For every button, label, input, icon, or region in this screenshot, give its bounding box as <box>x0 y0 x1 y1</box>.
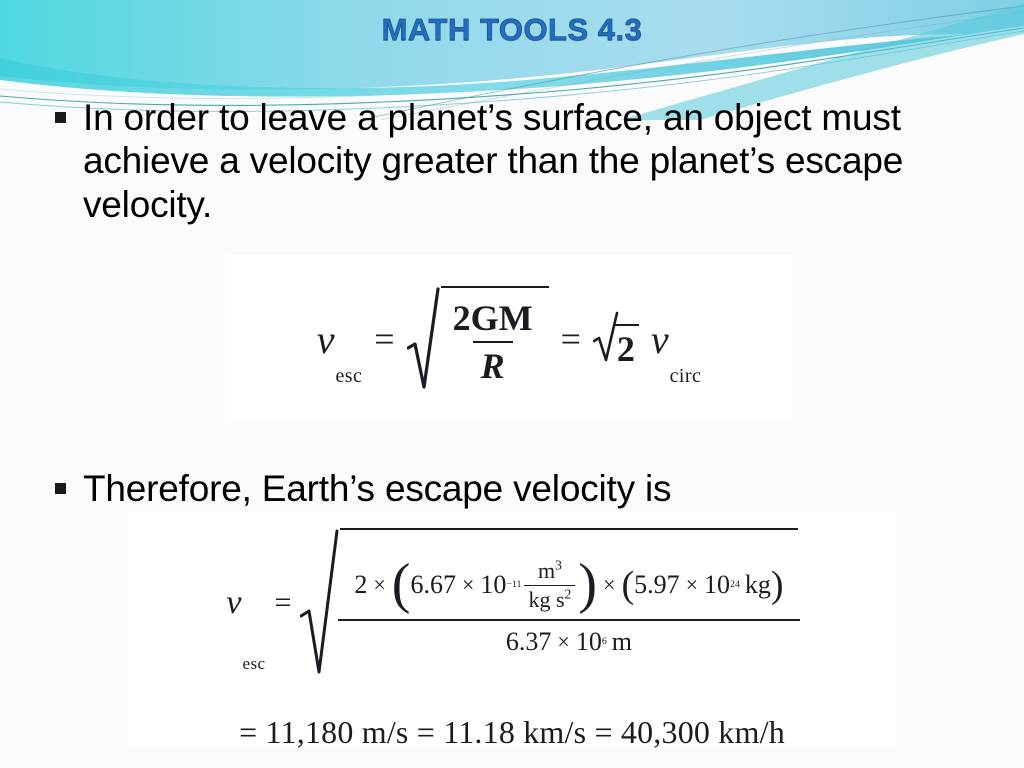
square-bullet-icon <box>55 112 66 123</box>
eq2-lhs-variable: v <box>226 584 241 622</box>
eq1-rhs-subscript: circ <box>670 365 702 392</box>
eq2-R-mantissa: 6.37 <box>506 627 552 657</box>
eq2-lhs-subscript: esc <box>243 654 266 678</box>
eq1-relation-2: = <box>561 318 581 360</box>
eq2-G-unit-num-exp: 3 <box>555 557 562 572</box>
eq2-G-times: × <box>462 572 474 598</box>
eq1-rhs-variable: v <box>651 316 669 363</box>
eq2-G-mantissa: 6.67 <box>410 570 456 600</box>
eq1-relation-1: = <box>374 318 394 360</box>
eq2-G-unit-den-exp: 2 <box>565 586 572 601</box>
bullet-item-1: In order to leave a planet’s surface, an… <box>55 96 985 226</box>
eq2-numerator: 2 × ( 6.67 × 10 −11 m3 <box>346 558 791 619</box>
eq2-M-times: × <box>686 572 698 598</box>
eq1-radicand: 2GM R <box>441 286 549 392</box>
equation-1-expression: v esc = 2GM R = <box>317 286 701 392</box>
eq1-denominator: R <box>473 341 513 387</box>
bullet-text-1: In order to leave a planet’s surface, an… <box>83 96 985 226</box>
eq2-G-unit-num-text: m <box>538 558 555 583</box>
eq1-lhs-variable: v <box>317 316 335 363</box>
eq1-square-root: 2GM R <box>407 286 549 392</box>
square-bullet-icon <box>55 483 66 494</box>
eq1-root-two: 2 <box>593 309 639 370</box>
eq1-lhs-subscript: esc <box>336 365 363 392</box>
eq2-denominator: 6.37 × 10 6 m <box>338 619 799 657</box>
eq1-root-coefficient: 2 <box>615 324 639 370</box>
radical-sign-icon <box>407 286 441 392</box>
eq1-numerator: 2GM <box>445 297 541 341</box>
slide-title: MATH TOOLS 4.3 <box>0 12 1024 48</box>
eq2-M-mantissa: 5.97 <box>634 570 680 600</box>
eq2-num-factor-2: 2 <box>354 570 367 600</box>
eq2-R-unit: m <box>612 627 632 657</box>
eq2-M-unit: kg <box>745 570 771 600</box>
equation-2-result-line: = 11,180 m/s = 11.18 km/s = 40,300 km/h <box>239 714 785 751</box>
eq2-G-unit-denominator: kg s2 <box>524 585 575 613</box>
equation-image-escape-velocity: v esc = 2GM R = <box>225 255 793 423</box>
bullet-text-2: Therefore, Earth’s escape velocity is <box>83 467 671 510</box>
equation-2-expression: v esc = 2 × ( 6.67 <box>226 528 797 678</box>
eq2-G-unit-fraction: m3 kg s2 <box>524 558 575 613</box>
eq2-num-times-1: × <box>373 572 385 598</box>
eq2-fraction: 2 × ( 6.67 × 10 −11 m3 <box>346 558 791 657</box>
eq2-paren-open-2: ( <box>621 570 634 600</box>
equation-image-earth-escape-velocity: v esc = 2 × ( 6.67 <box>128 512 896 746</box>
eq1-fraction: 2GM R <box>445 297 541 387</box>
eq2-square-root: 2 × ( 6.67 × 10 −11 m3 <box>300 528 797 678</box>
eq2-R-times: × <box>557 629 569 655</box>
eq2-relation: = <box>274 586 291 620</box>
eq2-G-unit-numerator: m3 <box>534 558 566 585</box>
slide: MATH TOOLS 4.3 In order to leave a plane… <box>0 0 1024 768</box>
bullet-item-2: Therefore, Earth’s escape velocity is <box>55 467 985 510</box>
eq2-R-base: 10 <box>576 627 602 657</box>
eq2-G-base: 10 <box>480 570 506 600</box>
eq2-num-times-2: × <box>603 572 615 598</box>
eq2-G-unit-den-text: kg s <box>528 587 564 612</box>
eq2-paren-open-1: ( <box>392 565 411 604</box>
eq2-paren-close-2: ) <box>771 570 784 600</box>
radical-sign-icon <box>300 528 340 678</box>
eq2-paren-close-1: ) <box>578 565 597 604</box>
eq2-M-base: 10 <box>704 570 730 600</box>
eq2-radicand: 2 × ( 6.67 × 10 −11 m3 <box>340 528 797 678</box>
